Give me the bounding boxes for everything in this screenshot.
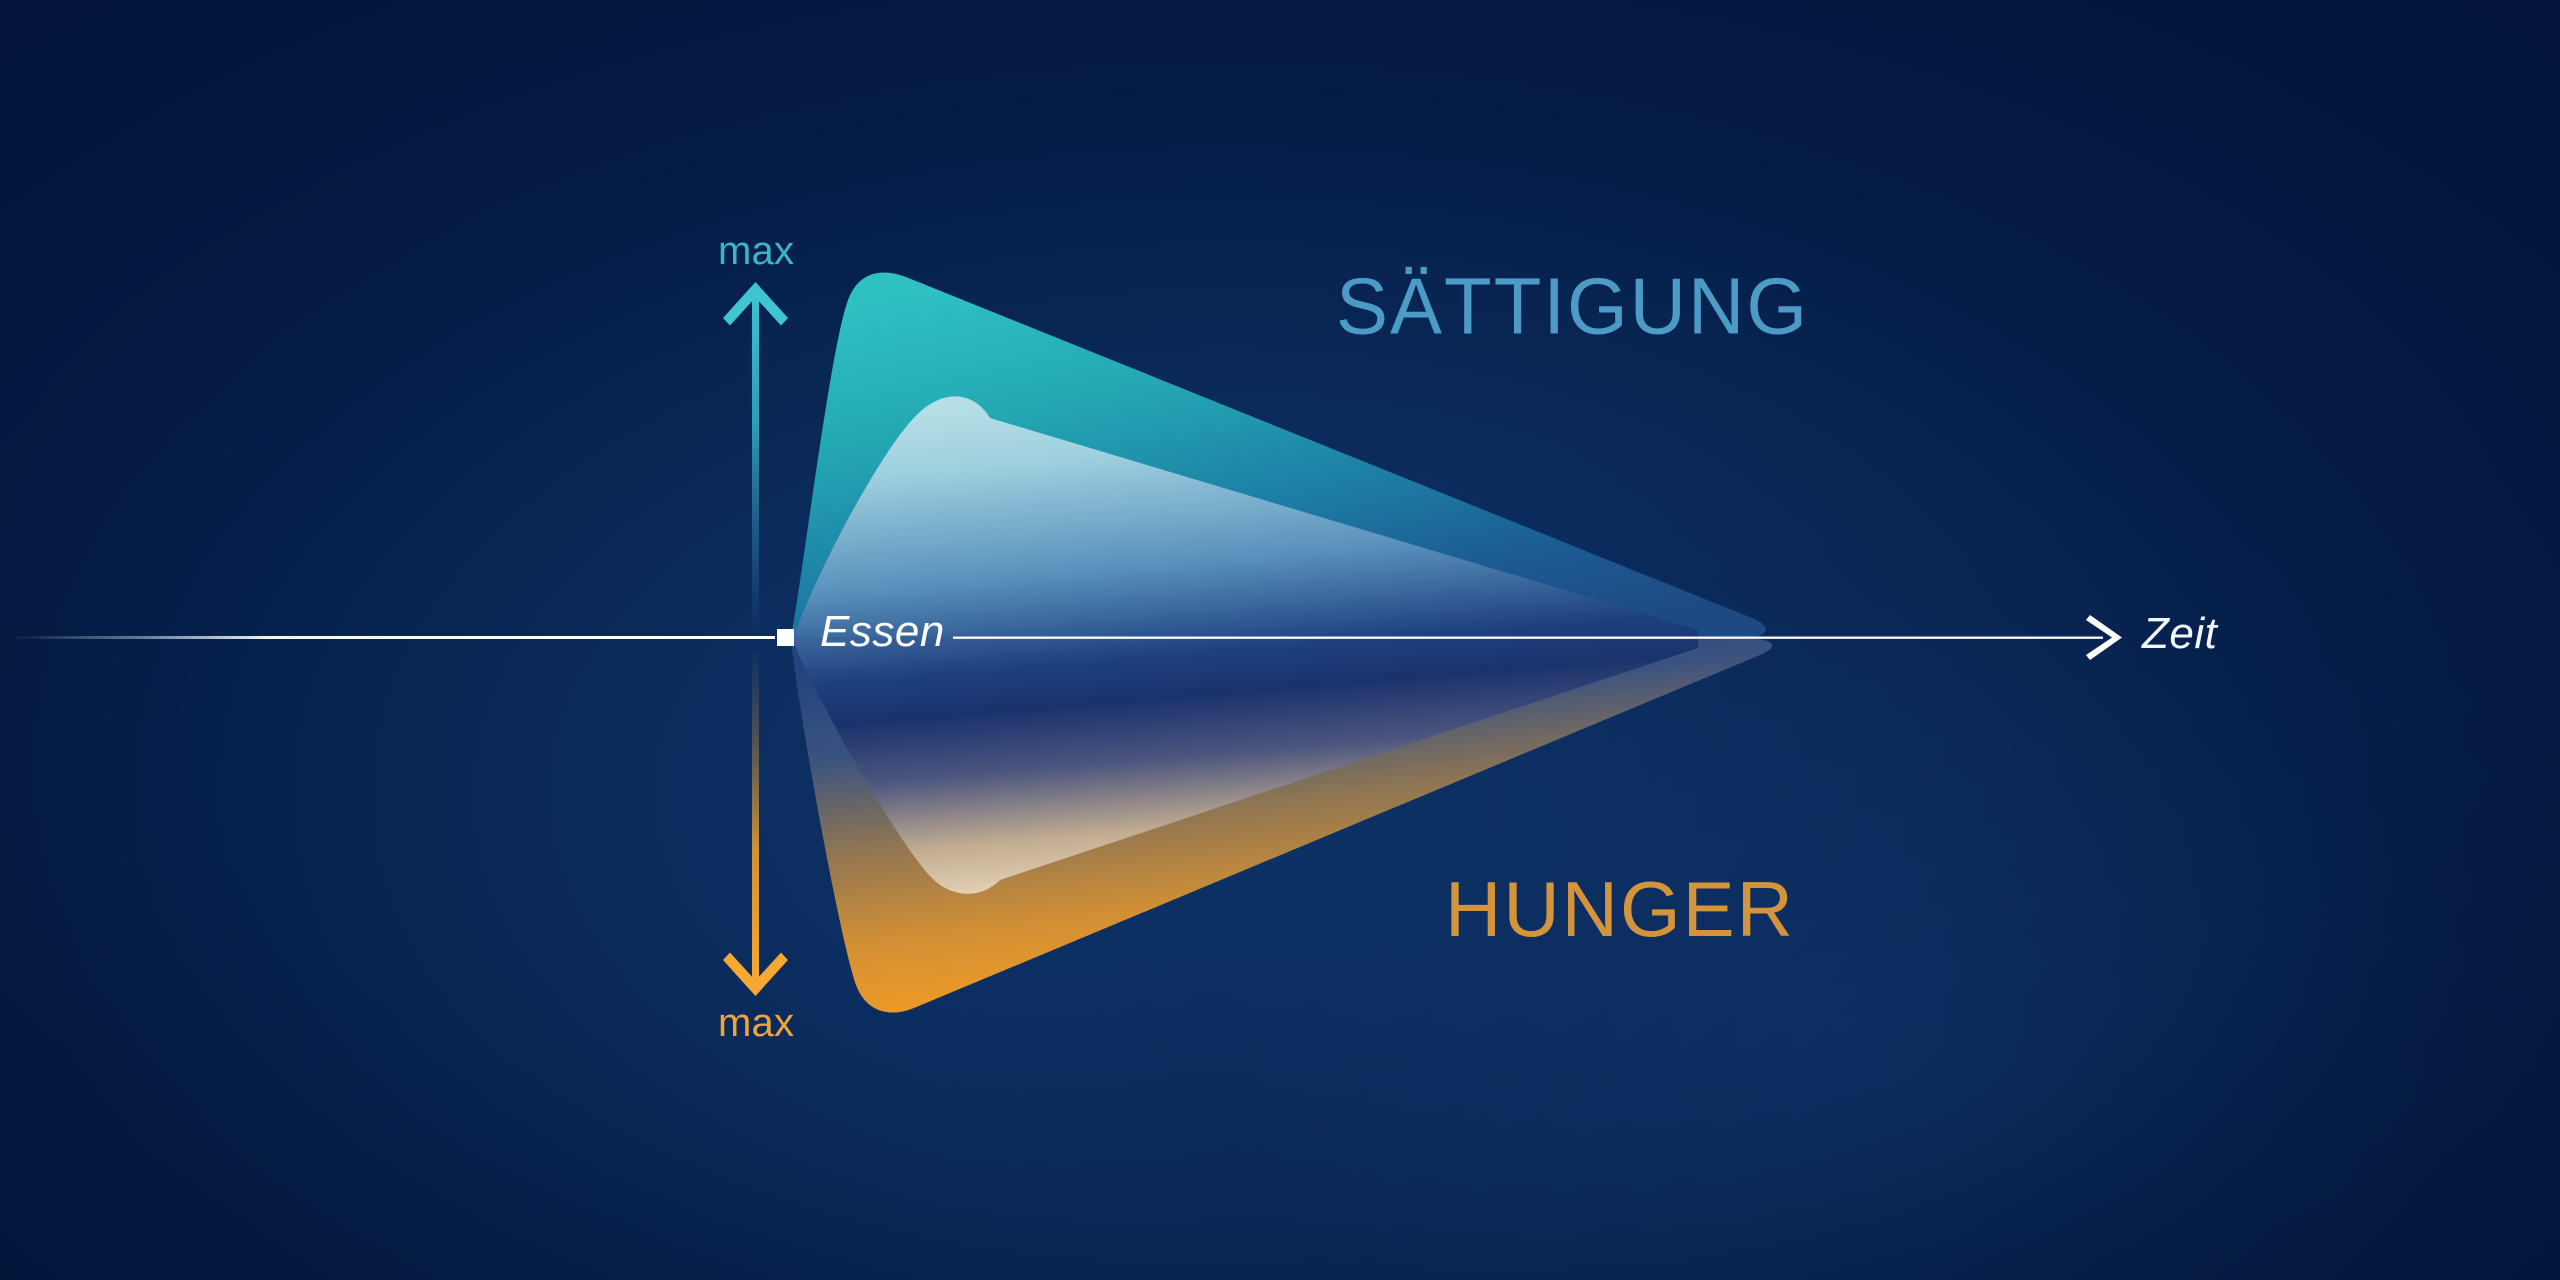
x-axis-label: Zeit [2142,609,2217,659]
origin-marker-label: Essen [820,607,945,657]
region-label-hunger: HUNGER [1445,864,1795,955]
figure-canvas: max max Essen Zeit SÄTTIGUNG HUNGER [0,0,2560,1280]
y-axis-up-label: max [718,229,794,274]
region-label-saturation: SÄTTIGUNG [1336,260,1809,353]
y-axis-down-label: max [718,1001,794,1046]
